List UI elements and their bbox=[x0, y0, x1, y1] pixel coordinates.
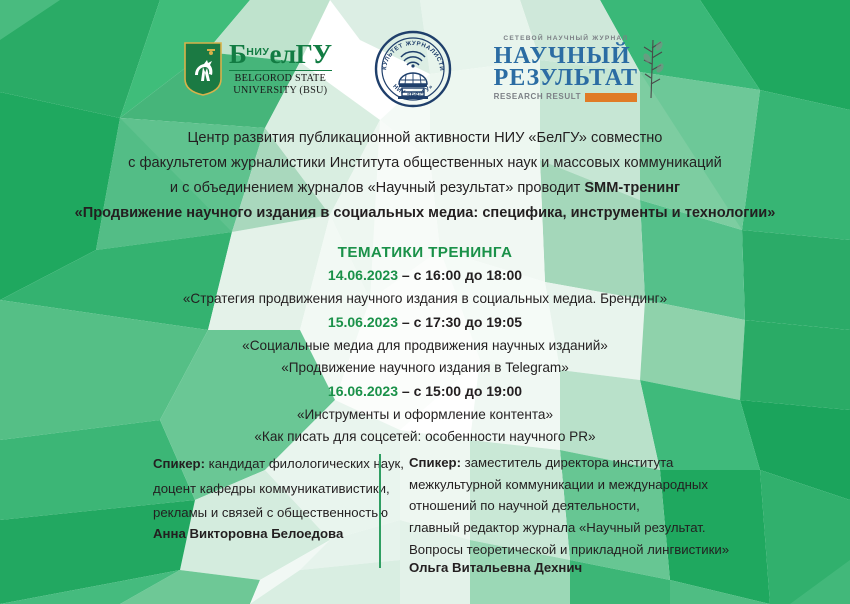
schedule-slot-1: 14.06.2023 – с 16:00 до 18:00 «Стратегия… bbox=[0, 267, 850, 310]
nr-english-label: RESEARCH RESULT bbox=[494, 93, 582, 101]
speaker-right-name: Ольга Витальевна Дехнич bbox=[409, 560, 783, 575]
belgu-rule-divider bbox=[229, 70, 332, 72]
belgu-logo: Б НИУ елГУ BELGOROD STATE UNIVERSITY (BS… bbox=[183, 41, 332, 97]
slot-3-item-2: «Как писать для соцсетей: особенности на… bbox=[0, 426, 850, 448]
speaker-left-line-3: рекламы и связей с общественностью bbox=[153, 501, 361, 526]
belgu-niu-label: НИУ bbox=[246, 47, 269, 58]
svg-text:ФАКУЛЬТЕТ ЖУРНАЛИСТИКИ: ФАКУЛЬТЕТ ЖУРНАЛИСТИКИ bbox=[374, 30, 444, 72]
nr-orange-bar bbox=[585, 93, 637, 102]
slot-3-time: 16.06.2023 – с 15:00 до 19:00 bbox=[0, 383, 850, 399]
topics-block: ТЕМАТИКИ ТРЕНИНГА 14.06.2023 – с 16:00 д… bbox=[0, 244, 850, 448]
speaker-left-line-1: Спикер: кандидат филологических наук, bbox=[153, 452, 361, 477]
slot-2-item-1: «Социальные медиа для продвижения научны… bbox=[0, 335, 850, 357]
belgu-b: Б bbox=[229, 41, 246, 68]
belgorod-shield-icon bbox=[183, 41, 223, 97]
speaker-left-role-1: кандидат филологических наук, bbox=[205, 456, 404, 471]
speaker-left-label: Спикер: bbox=[153, 456, 205, 471]
belgu-subtitle-line1: BELGOROD STATE bbox=[229, 73, 332, 85]
headline-smm-training: SMM-тренинг bbox=[584, 180, 680, 196]
slot-3-date: 16.06.2023 bbox=[328, 383, 398, 399]
speaker-right-line-3: отношений по научной деятельности, bbox=[409, 495, 783, 517]
belgu-wordmark: Б НИУ елГУ bbox=[229, 41, 332, 68]
headline-line-2: с факультетом журналистики Института общ… bbox=[0, 151, 850, 176]
nauchny-rezultat-logo: СЕТЕВОЙ НАУЧНЫЙ ЖУРНАЛ НАУЧНЫЙ РЕЗУЛЬТАТ… bbox=[494, 36, 667, 102]
speaker-right-role-1: заместитель директора института bbox=[461, 455, 673, 470]
nr-title-line1: НАУЧНЫЙ bbox=[494, 45, 638, 68]
slot-3-hours: – с 15:00 до 19:00 bbox=[398, 383, 522, 399]
speakers-section: Спикер: кандидат филологических наук, до… bbox=[0, 452, 850, 575]
speaker-right-line-5: Вопросы теоретической и прикладной лингв… bbox=[409, 539, 783, 561]
nr-branch-icon bbox=[641, 38, 667, 100]
speaker-right-line-2: межкультурной коммуникации и международн… bbox=[409, 474, 783, 496]
belgu-subtitle-line2: UNIVERSITY (BSU) bbox=[229, 85, 332, 97]
slot-1-date: 14.06.2023 bbox=[328, 267, 398, 283]
slot-2-item-2: «Продвижение научного издания в Telegram… bbox=[0, 357, 850, 379]
speaker-right-line-4: главный редактор журнала «Научный резуль… bbox=[409, 517, 783, 539]
headline-line-3-text: и с объединением журналов «Научный резул… bbox=[170, 180, 584, 196]
speaker-right-label: Спикер: bbox=[409, 455, 461, 470]
speaker-right-line-1: Спикер: заместитель директора института bbox=[409, 452, 783, 474]
headline-line-1: Центр развития публикационной активности… bbox=[0, 126, 850, 151]
slot-1-item-1: «Стратегия продвижения научного издания … bbox=[0, 288, 850, 310]
schedule-slot-3: 16.06.2023 – с 15:00 до 19:00 «Инструмен… bbox=[0, 383, 850, 448]
speaker-right: Спикер: заместитель директора института … bbox=[381, 452, 801, 575]
belgu-rest: елГУ bbox=[269, 41, 331, 68]
headline-training-title: «Продвижение научного издания в социальн… bbox=[0, 201, 850, 226]
nr-title-line2: РЕЗУЛЬТАТ bbox=[494, 67, 638, 90]
slot-2-hours: – с 17:30 до 19:05 bbox=[398, 314, 522, 330]
nr-kicker-label: СЕТЕВОЙ НАУЧНЫЙ ЖУРНАЛ bbox=[494, 36, 638, 43]
slot-2-time: 15.06.2023 – с 17:30 до 19:05 bbox=[0, 314, 850, 330]
topics-heading: ТЕМАТИКИ ТРЕНИНГА bbox=[0, 244, 850, 261]
slot-2-date: 15.06.2023 bbox=[328, 314, 398, 330]
speaker-left: Спикер: кандидат филологических наук, до… bbox=[49, 452, 379, 575]
headline-block: Центр развития публикационной активности… bbox=[0, 126, 850, 226]
journalism-faculty-emblem-icon: ФАКУЛЬТЕТ ЖУРНАЛИСТИКИ НИУ «БелГУ» bbox=[374, 30, 452, 108]
logo-row: Б НИУ елГУ BELGOROD STATE UNIVERSITY (BS… bbox=[183, 30, 667, 108]
speaker-left-line-2: доцент кафедры коммуникативистики, bbox=[153, 477, 361, 502]
schedule-slot-2: 15.06.2023 – с 17:30 до 19:05 «Социальны… bbox=[0, 314, 850, 379]
slot-1-time: 14.06.2023 – с 16:00 до 18:00 bbox=[0, 267, 850, 283]
speaker-left-name: Анна Викторовна Белоедова bbox=[153, 526, 361, 541]
headline-line-3: и с объединением журналов «Научный резул… bbox=[0, 176, 850, 201]
slot-3-item-1: «Инструменты и оформление контента» bbox=[0, 404, 850, 426]
slot-1-hours: – с 16:00 до 18:00 bbox=[398, 267, 522, 283]
poster-canvas: Б НИУ елГУ BELGOROD STATE UNIVERSITY (BS… bbox=[0, 0, 850, 604]
